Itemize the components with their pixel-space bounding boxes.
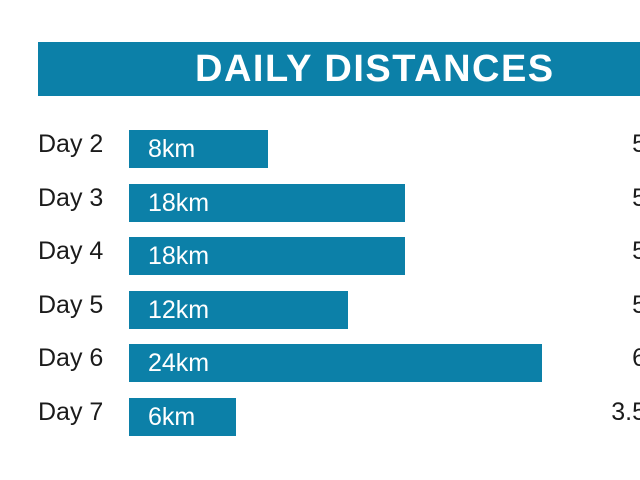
row-label-day-7: Day 7 — [38, 393, 103, 431]
bar-value-day-7: 6km — [148, 398, 195, 436]
bar-value-day-5: 12km — [148, 291, 209, 329]
bar-value-day-3: 18km — [148, 184, 209, 222]
row-label-day-6: Day 6 — [38, 339, 103, 377]
bar-day-7[interactable]: 6km — [129, 398, 236, 436]
bar-track-day-4: 18km — [129, 237, 640, 275]
side-value-day-5: 5 — [632, 286, 640, 324]
chart-title-banner: DAILY DISTANCES — [38, 42, 640, 96]
bar-day-4[interactable]: 18km — [129, 237, 405, 275]
chart-row: Day 3 18km 5 — [0, 179, 640, 233]
bar-day-6[interactable]: 24km — [129, 344, 542, 382]
bar-track-day-6: 24km — [129, 344, 640, 382]
side-value-day-7: 3.5 — [611, 393, 640, 431]
page-title: DAILY DISTANCES — [195, 42, 555, 96]
bar-value-day-6: 24km — [148, 344, 209, 382]
chart-row: Day 6 24km 6 — [0, 339, 640, 393]
bar-track-day-7: 6km — [129, 398, 640, 436]
row-label-day-5: Day 5 — [38, 286, 103, 324]
bar-day-3[interactable]: 18km — [129, 184, 405, 222]
daily-distances-chart-page: DAILY DISTANCES Day 2 8km 5 Day 3 18km 5… — [0, 0, 640, 480]
bar-day-5[interactable]: 12km — [129, 291, 348, 329]
bar-chart: Day 2 8km 5 Day 3 18km 5 Day 4 18km — [0, 125, 640, 446]
chart-row: Day 2 8km 5 — [0, 125, 640, 179]
bar-value-day-2: 8km — [148, 130, 195, 168]
side-value-day-4: 5 — [632, 232, 640, 270]
side-value-day-3: 5 — [632, 179, 640, 217]
chart-row: Day 5 12km 5 — [0, 286, 640, 340]
bar-track-day-2: 8km — [129, 130, 640, 168]
bar-track-day-3: 18km — [129, 184, 640, 222]
bar-day-2[interactable]: 8km — [129, 130, 268, 168]
bar-value-day-4: 18km — [148, 237, 209, 275]
side-value-day-2: 5 — [632, 125, 640, 163]
row-label-day-3: Day 3 — [38, 179, 103, 217]
side-value-day-6: 6 — [632, 339, 640, 377]
row-label-day-4: Day 4 — [38, 232, 103, 270]
chart-row: Day 7 6km 3.5 — [0, 393, 640, 447]
chart-row: Day 4 18km 5 — [0, 232, 640, 286]
bar-track-day-5: 12km — [129, 291, 640, 329]
row-label-day-2: Day 2 — [38, 125, 103, 163]
